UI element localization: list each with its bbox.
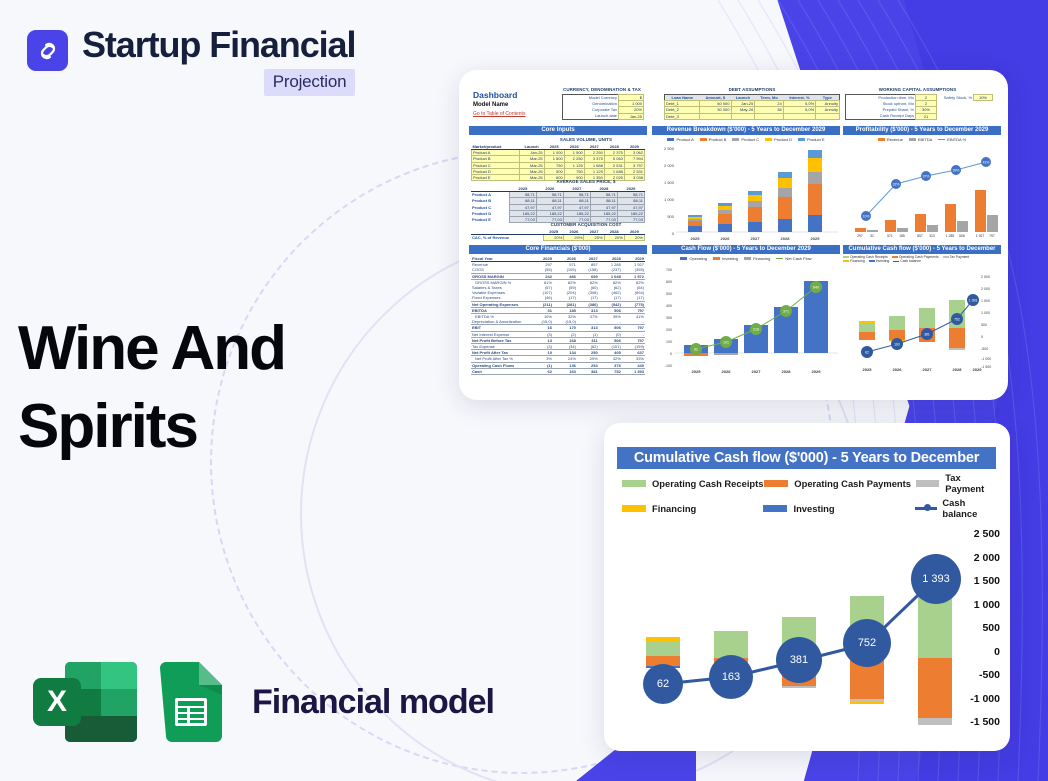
data-node-2025[interactable]: 62	[643, 664, 683, 704]
svg-text:2029: 2029	[973, 367, 983, 372]
svg-text:300: 300	[666, 316, 672, 320]
svg-text:1 000: 1 000	[664, 197, 675, 202]
cac-table: 20252026202720282029 CAC, % of Revenue20…	[471, 229, 645, 241]
brand-subtitle: Projection	[264, 69, 356, 96]
svg-text:2028: 2028	[782, 369, 792, 374]
svg-text:500: 500	[981, 323, 987, 327]
legend-item-operating-cash-receipts: Operating Cash Receipts	[622, 472, 764, 494]
svg-text:571: 571	[887, 234, 893, 238]
svg-text:752: 752	[954, 317, 960, 321]
legend-item-tax-payment: Tax Payment	[916, 472, 1000, 494]
cac-header: CUSTOMER ACQUISITION COST	[527, 222, 645, 227]
y-tick-1000: 1 000	[974, 599, 1000, 611]
microsoft-excel-icon: X	[33, 662, 137, 742]
svg-text:506: 506	[959, 234, 965, 238]
currency-panel-header: CURRENCY, DENOMINATION & TAX	[542, 87, 662, 92]
svg-text:185: 185	[899, 234, 905, 238]
working-capital-table: Production time, Mo2 Stock upfront, Mo2 …	[845, 94, 937, 120]
svg-text:100: 100	[666, 340, 672, 344]
legend-swatch-yellow	[622, 505, 646, 512]
poster-canvas: Startup Financial Projection Wine And Sp…	[0, 0, 1048, 781]
svg-text:2028: 2028	[953, 367, 963, 372]
legend-item-operating-cash-payments: Operating Cash Payments	[764, 472, 916, 494]
svg-text:-100: -100	[665, 364, 672, 368]
svg-text:2 000: 2 000	[664, 163, 675, 168]
debt-panel-table: Loan Name Amount, $ Launch Term, Mo Inte…	[664, 94, 840, 120]
mini-chart-profitability-legend: Revenue EBITDA EBITDA %	[843, 137, 1001, 142]
mini-chart-revenue-title: Revenue Breakdown ($'000) - 5 Years to D…	[652, 126, 840, 135]
legend-item-investing: Investing	[763, 497, 914, 519]
cumulative-cashflow-chart-card[interactable]: Cumulative Cash flow ($'000) - 5 Years t…	[604, 423, 1010, 751]
brand-lockup: Startup Financial Projection	[27, 25, 355, 96]
y-tick-minus1000: -1 000	[970, 693, 1000, 705]
cash-balance-line	[634, 521, 974, 736]
safety-stock-table: Safety Stock, %10%	[937, 94, 993, 101]
y-tick-minus1500: -1 500	[970, 716, 1000, 728]
svg-text:62: 62	[865, 350, 869, 354]
svg-text:1 927: 1 927	[976, 234, 985, 238]
legend-item-financing: Financing	[622, 497, 763, 519]
svg-text:297: 297	[857, 234, 863, 238]
brand-title: Startup Financial	[82, 25, 355, 65]
svg-text:2029: 2029	[812, 369, 822, 374]
data-node-2027[interactable]: 381	[776, 637, 822, 683]
data-node-2026[interactable]: 163	[709, 655, 753, 699]
svg-text:500: 500	[666, 292, 672, 296]
average-price-table: 20252026202720282029 Product A58,7158,71…	[471, 186, 645, 223]
y-tick-1500: 1 500	[974, 575, 1000, 587]
svg-text:62: 62	[694, 348, 698, 352]
table-of-contents-link[interactable]: Go to Table of Contents	[473, 111, 525, 117]
svg-text:640: 640	[813, 286, 819, 290]
chart-legend: Operating Cash Receipts Operating Cash P…	[622, 472, 1000, 522]
legend-line-marker	[915, 507, 938, 510]
mini-chart-cashflow-legend: Operating Investing Financing Net Cash F…	[652, 256, 840, 261]
svg-text:37%: 37%	[923, 175, 930, 179]
svg-text:-500: -500	[981, 347, 988, 351]
mini-chart-revenue: 2 5002 0001 500 1 0005000 20252026202720…	[652, 144, 840, 242]
svg-text:2 500: 2 500	[664, 146, 675, 151]
legend-item-cash-balance: Cash balance	[915, 497, 1001, 519]
sales-volume-table: Market/product Launch 2025 2026 2027 202…	[471, 144, 645, 181]
svg-text:2028: 2028	[781, 236, 791, 241]
mini-chart-cashflow: 700600500400 3002001000-100 62 1	[652, 263, 840, 375]
svg-text:2027: 2027	[923, 367, 933, 372]
svg-text:218: 218	[753, 328, 759, 332]
legend-swatch-grey	[916, 480, 939, 487]
mini-chart-revenue-legend: Product A Product B Product C Product D …	[652, 137, 840, 142]
core-inputs-band: Core Inputs	[469, 126, 647, 135]
page-title-line2: Spirits	[18, 388, 285, 466]
svg-text:0: 0	[981, 335, 983, 339]
svg-text:-1 000: -1 000	[981, 357, 991, 361]
svg-text:700: 700	[666, 268, 672, 272]
dashboard-title: Dashboard	[473, 90, 517, 100]
legend-swatch-orange	[764, 480, 788, 487]
legend-swatch-green	[622, 480, 646, 487]
svg-text:163: 163	[894, 342, 900, 346]
svg-text:2027: 2027	[752, 369, 762, 374]
chart-title: Cumulative Cash flow ($'000) - 5 Years t…	[617, 447, 996, 469]
debt-panel-header: DEBT ASSUMPTIONS	[662, 87, 842, 92]
svg-text:39%: 39%	[953, 169, 960, 173]
svg-text:2026: 2026	[722, 369, 732, 374]
svg-text:2026: 2026	[893, 367, 903, 372]
svg-text:2025: 2025	[692, 369, 702, 374]
svg-text:31: 31	[870, 234, 874, 238]
mini-chart-cashflow-title: Cash Flow ($'000) - 5 Years to December …	[652, 245, 840, 254]
svg-text:1 393: 1 393	[969, 298, 978, 302]
svg-text:400: 400	[666, 304, 672, 308]
y-tick-2500: 2 500	[974, 528, 1000, 540]
svg-text:2025: 2025	[691, 236, 701, 241]
page-title-line1: Wine And	[18, 310, 285, 388]
y-tick-0: 0	[994, 646, 1000, 658]
core-financials-table: Fiscal Year 20252026202720282029 Revenue…	[471, 256, 645, 375]
y-tick-500: 500	[982, 622, 1000, 634]
svg-text:1 500: 1 500	[981, 299, 990, 303]
svg-text:1 000: 1 000	[981, 311, 990, 315]
svg-text:2029: 2029	[811, 236, 821, 241]
dashboard-preview-card[interactable]: Dashboard Model Name Go to Table of Cont…	[459, 70, 1008, 400]
footer-badges: X Financial model	[33, 662, 494, 742]
e-loop-logo-icon	[27, 30, 68, 71]
core-financials-band: Core Financials ($'000)	[469, 245, 647, 254]
svg-text:797: 797	[989, 234, 995, 238]
google-sheets-icon	[154, 662, 228, 742]
svg-text:10%: 10%	[863, 215, 870, 219]
svg-text:1 285: 1 285	[946, 234, 955, 238]
currency-panel-table: Model Currency$ Denomination1 000 Corpor…	[562, 94, 644, 120]
svg-text:32%: 32%	[893, 183, 900, 187]
data-node-2028[interactable]: 752	[843, 619, 891, 667]
mini-chart-profitability-title: Profitability ($'000) - 5 Years to Decem…	[843, 126, 1001, 135]
svg-text:500: 500	[667, 214, 674, 219]
svg-text:381: 381	[924, 332, 930, 336]
excel-letter-badge: X	[33, 678, 81, 726]
svg-text:600: 600	[666, 280, 672, 284]
svg-text:1 500: 1 500	[664, 180, 675, 185]
average-price-header: AVERAGE SALES PRICE, $	[527, 179, 645, 184]
svg-text:2026: 2026	[721, 236, 731, 241]
svg-text:313: 313	[929, 234, 935, 238]
chart-plot-area: 62 163 381 752 1 393 2025 2026 2027 2028…	[634, 521, 974, 706]
svg-text:-1 500: -1 500	[981, 365, 991, 369]
page-title: Wine And Spirits	[18, 310, 285, 466]
y-tick-minus500: -500	[979, 669, 1000, 681]
svg-text:0: 0	[672, 231, 675, 236]
svg-text:200: 200	[666, 328, 672, 332]
svg-text:2 500: 2 500	[981, 275, 990, 279]
mini-chart-cumulative-legend: Operating Cash Receipts Operating Cash P…	[843, 255, 1001, 263]
svg-text:2027: 2027	[751, 236, 761, 241]
footer-label: Financial model	[252, 683, 494, 722]
sales-volume-header: SALES VOLUME, UNITS	[527, 137, 645, 142]
svg-text:857: 857	[917, 234, 923, 238]
data-node-2029[interactable]: 1 393	[911, 554, 961, 604]
y-tick-2000: 2 000	[974, 552, 1000, 564]
mini-chart-profitability: 10% 32% 37% 39% 41% 29731 571185 857313 …	[843, 144, 1001, 242]
svg-text:0: 0	[670, 352, 672, 356]
svg-text:41%: 41%	[983, 161, 990, 165]
dashboard-model-name: Model Name	[473, 102, 508, 108]
svg-text:2 000: 2 000	[981, 287, 990, 291]
mini-chart-cumulative: 2 5002 0001 5001 000 5000-500-1 000-1 50…	[843, 268, 1001, 374]
legend-swatch-blue	[763, 505, 787, 512]
svg-text:101: 101	[723, 341, 729, 345]
mini-chart-cumulative-title: Cumulative Cash flow ($'000) - 5 Years t…	[843, 245, 1001, 254]
working-capital-header: WORKING CAPITAL ASSUMPTIONS	[845, 87, 990, 92]
svg-text:2025: 2025	[863, 367, 873, 372]
svg-text:371: 371	[783, 310, 789, 314]
